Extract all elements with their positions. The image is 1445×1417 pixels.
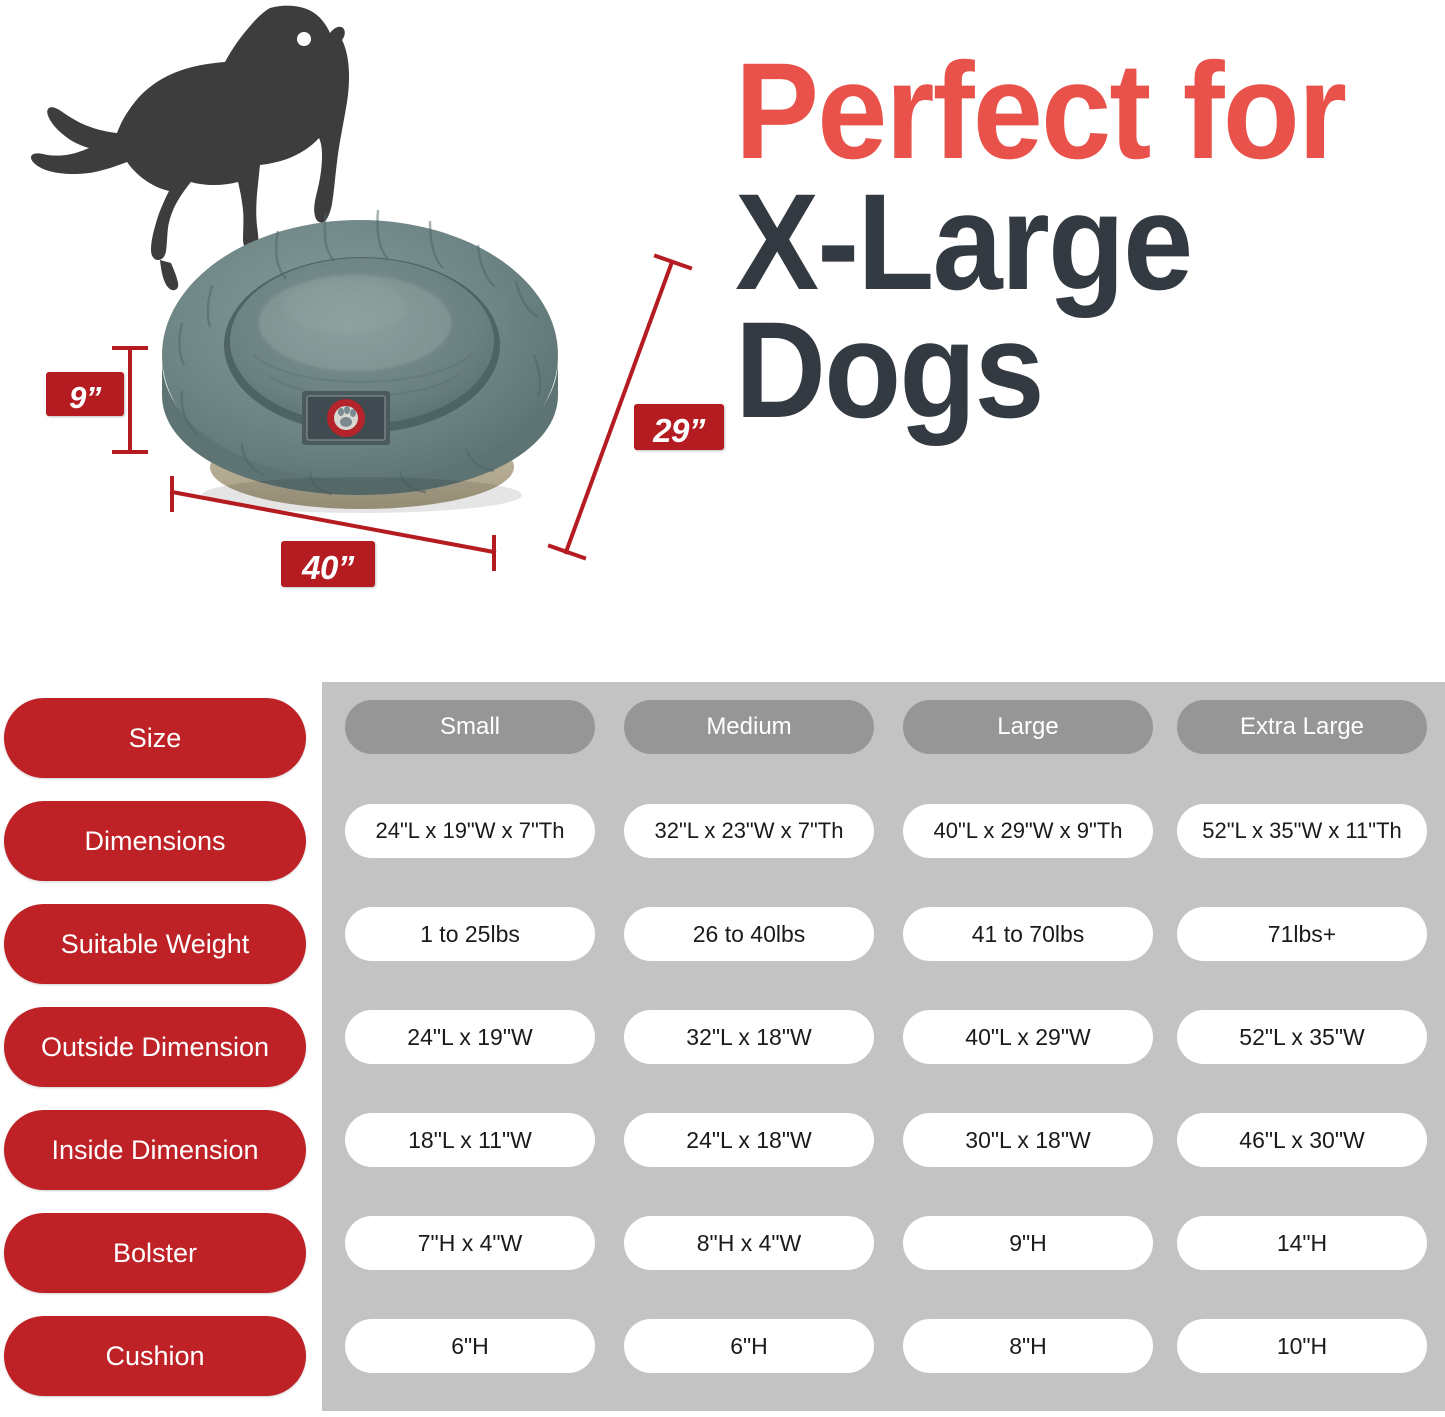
column-header-large: Large: [903, 700, 1153, 754]
product-photo-dog-bed: [150, 195, 570, 540]
cell-small-dimensions: 24"L x 19"W x 7"Th: [345, 804, 595, 858]
cell-large-cushion: 8"H: [903, 1319, 1153, 1373]
headline-line-1: Perfect for: [735, 48, 1388, 175]
row-label-dimensions: Dimensions: [4, 801, 306, 881]
spec-table: Size Dimensions Suitable Weight Outside …: [0, 672, 1445, 1417]
dimension-badge-height: 9”: [46, 372, 124, 416]
row-label-inside-dimension: Inside Dimension: [4, 1110, 306, 1190]
row-label-outside-dimension: Outside Dimension: [4, 1007, 306, 1087]
cell-xl-outside-dimension: 52"L x 35"W: [1177, 1010, 1427, 1064]
cell-medium-suitable-weight: 26 to 40lbs: [624, 907, 874, 961]
infographic-page: 9” 40” 29” Perfect for X-Large Dogs Size…: [0, 0, 1445, 1417]
cell-xl-suitable-weight: 71lbs+: [1177, 907, 1427, 961]
dimension-badge-length: 40”: [281, 541, 375, 587]
row-label-bolster: Bolster: [4, 1213, 306, 1293]
cell-medium-bolster: 8"H x 4"W: [624, 1216, 874, 1270]
cell-small-outside-dimension: 24"L x 19"W: [345, 1010, 595, 1064]
cell-large-dimensions: 40"L x 29"W x 9"Th: [903, 804, 1153, 858]
cell-large-bolster: 9"H: [903, 1216, 1153, 1270]
column-header-extra-large: Extra Large: [1177, 700, 1427, 754]
cell-medium-dimensions: 32"L x 23"W x 7"Th: [624, 804, 874, 858]
column-header-small: Small: [345, 700, 595, 754]
row-label-size: Size: [4, 698, 306, 778]
headline-line-3: Dogs: [735, 307, 1388, 434]
cell-medium-outside-dimension: 32"L x 18"W: [624, 1010, 874, 1064]
cell-small-suitable-weight: 1 to 25lbs: [345, 907, 595, 961]
row-label-suitable-weight: Suitable Weight: [4, 904, 306, 984]
row-label-column: Size Dimensions Suitable Weight Outside …: [0, 682, 312, 1411]
cell-medium-cushion: 6"H: [624, 1319, 874, 1373]
cell-medium-inside-dimension: 24"L x 18"W: [624, 1113, 874, 1167]
hero-section: 9” 40” 29” Perfect for X-Large Dogs: [0, 0, 1445, 672]
cell-xl-bolster: 14"H: [1177, 1216, 1427, 1270]
cell-xl-dimensions: 52"L x 35"W x 11"Th: [1177, 804, 1427, 858]
cell-small-cushion: 6"H: [345, 1319, 595, 1373]
cell-large-inside-dimension: 30"L x 18"W: [903, 1113, 1153, 1167]
cell-small-bolster: 7"H x 4"W: [345, 1216, 595, 1270]
headline-line-2: X-Large: [735, 179, 1388, 306]
cell-xl-inside-dimension: 46"L x 30"W: [1177, 1113, 1427, 1167]
dimension-badge-width: 29”: [634, 404, 724, 450]
headline-block: Perfect for X-Large Dogs: [735, 48, 1445, 434]
row-label-cushion: Cushion: [4, 1316, 306, 1396]
column-header-medium: Medium: [624, 700, 874, 754]
cell-large-suitable-weight: 41 to 70lbs: [903, 907, 1153, 961]
cell-large-outside-dimension: 40"L x 29"W: [903, 1010, 1153, 1064]
cell-xl-cushion: 10"H: [1177, 1319, 1427, 1373]
brand-tag: [302, 391, 390, 445]
cell-small-inside-dimension: 18"L x 11"W: [345, 1113, 595, 1167]
